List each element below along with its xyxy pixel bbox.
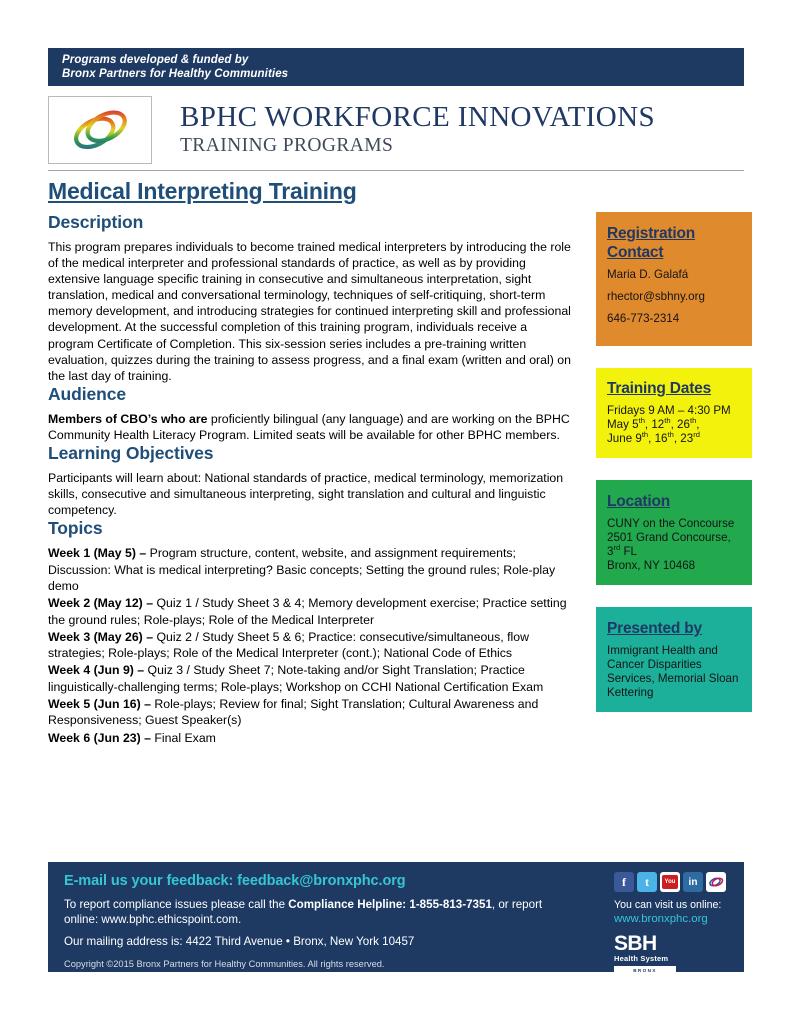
bphc-ring-glyph	[708, 874, 724, 890]
may-mid-1: , 12	[645, 418, 664, 431]
presenter-line-4: Kettering	[607, 686, 742, 700]
audience-lead: Members of CBO’s who are	[48, 412, 207, 426]
bphc-rings-logo-icon	[64, 103, 136, 157]
topic-week-label: Week 6 (Jun 23) –	[48, 731, 151, 745]
training-dates-time: Fridays 9 AM – 4:30 PM	[607, 404, 742, 418]
audience-body: Members of CBO’s who are proficiently bi…	[48, 411, 572, 443]
topic-week-text: Final Exam	[151, 731, 216, 745]
topic-week-label: Week 3 (May 26) –	[48, 630, 153, 644]
visit-label: You can visit us online:	[614, 899, 739, 912]
sbh-logo-sub: Health System	[614, 954, 739, 964]
topic-week-label: Week 1 (May 5) –	[48, 546, 146, 560]
compliance-pre: To report compliance issues please call …	[64, 898, 288, 911]
footer-right: f t You in You can visit us online: www.…	[614, 872, 739, 974]
topic-week-label: Week 2 (May 12) –	[48, 596, 153, 610]
objectives-heading: Learning Objectives	[48, 443, 572, 464]
sbh-logo-main: SBH	[614, 933, 739, 954]
june-pre: June 9	[607, 432, 642, 445]
registration-contact-name: Maria D. Galafá	[607, 268, 742, 282]
may-mid-2: , 26	[671, 418, 690, 431]
location-city: Bronx, NY 10468	[607, 559, 742, 573]
topic-week-item: Week 5 (Jun 16) – Role-plays; Review for…	[48, 696, 572, 729]
presented-by-heading: Presented by	[607, 619, 742, 638]
training-dates-heading: Training Dates	[607, 379, 742, 398]
linkedin-glyph: in	[689, 877, 698, 888]
facebook-glyph: f	[622, 875, 626, 890]
footer-mailing-address: Our mailing address is: 4422 Third Avenu…	[64, 935, 564, 950]
presenter-line-1: Immigrant Health and	[607, 644, 742, 658]
registration-contact-heading: RegistrationContact	[607, 224, 742, 262]
funding-banner: Programs developed & funded by Bronx Par…	[48, 48, 744, 86]
topic-week-item: Week 4 (Jun 9) – Quiz 3 / Study Sheet 7;…	[48, 662, 572, 695]
linkedin-icon[interactable]: in	[683, 872, 703, 892]
footer-compliance: To report compliance issues please call …	[64, 898, 564, 927]
location-venue: CUNY on the Concourse	[607, 517, 742, 531]
social-links: f t You in	[614, 872, 739, 892]
location-heading: Location	[607, 492, 742, 511]
june-mid-1: , 16	[648, 432, 667, 445]
topic-week-item: Week 6 (Jun 23) – Final Exam	[48, 730, 572, 746]
topic-week-item: Week 3 (May 26) – Quiz 2 / Study Sheet 5…	[48, 629, 572, 662]
training-dates-may: May 5th, 12th, 26th,	[607, 418, 742, 432]
sbh-logo: SBH Health System BRONX	[614, 933, 739, 974]
brand-header: BPHC WORKFORCE INNOVATIONS TRAINING PROG…	[48, 96, 744, 168]
funding-banner-line-2: Bronx Partners for Healthy Communities	[62, 67, 744, 81]
may-pre: May 5	[607, 418, 639, 431]
may-end: ,	[696, 418, 699, 431]
objectives-body: Participants will learn about: National …	[48, 470, 572, 518]
header-divider	[48, 170, 744, 171]
location-floor: 3rd FL	[607, 545, 742, 559]
page-title: Medical Interpreting Training	[48, 178, 357, 205]
logo-box	[48, 96, 152, 164]
june-sup-3: rd	[693, 430, 700, 439]
presented-by-box: Presented by Immigrant Health and Cancer…	[596, 607, 752, 712]
registration-contact-box: RegistrationContact Maria D. Galafá rhec…	[596, 212, 752, 346]
location-box: Location CUNY on the Concourse 2501 Gran…	[596, 480, 752, 585]
facebook-icon[interactable]: f	[614, 872, 634, 892]
topic-week-item: Week 1 (May 5) – Program structure, cont…	[48, 545, 572, 594]
topics-list: Week 1 (May 5) – Program structure, cont…	[48, 545, 572, 746]
registration-heading-line2: Contact	[607, 244, 663, 261]
footer-left: E-mail us your feedback: feedback@bronxp…	[64, 873, 564, 970]
brand-title: BPHC WORKFORCE INNOVATIONS	[180, 101, 655, 134]
topic-week-item: Week 2 (May 12) – Quiz 1 / Study Sheet 3…	[48, 595, 572, 628]
brand-subtitle: TRAINING PROGRAMS	[180, 134, 655, 157]
funding-banner-line-1: Programs developed & funded by	[62, 53, 744, 67]
registration-contact-phone[interactable]: 646-773-2314	[607, 312, 742, 326]
training-dates-box: Training Dates Fridays 9 AM – 4:30 PM Ma…	[596, 368, 752, 458]
presenter-line-2: Cancer Disparities	[607, 658, 742, 672]
location-street: 2501 Grand Concourse,	[607, 531, 742, 545]
description-body: This program prepares individuals to bec…	[48, 239, 572, 384]
youtube-glyph: You	[662, 875, 678, 889]
compliance-helpline[interactable]: Compliance Helpline: 1-855-813-7351	[288, 898, 492, 911]
bphc-icon[interactable]	[706, 872, 726, 892]
twitter-glyph: t	[645, 875, 649, 890]
topics-heading: Topics	[48, 518, 572, 539]
registration-contact-email[interactable]: rhector@sbhny.org	[607, 290, 742, 304]
footer-copyright: Copyright ©2015 Bronx Partners for Healt…	[64, 958, 564, 970]
sidebar: RegistrationContact Maria D. Galafá rhec…	[596, 212, 752, 734]
footer-feedback-link[interactable]: E-mail us your feedback: feedback@bronxp…	[64, 873, 564, 889]
registration-heading-line1: Registration	[607, 225, 695, 242]
floor-label: FL	[620, 545, 637, 558]
visit-url[interactable]: www.bronxphc.org	[614, 912, 739, 926]
footer: E-mail us your feedback: feedback@bronxp…	[48, 862, 744, 972]
audience-heading: Audience	[48, 384, 572, 405]
twitter-icon[interactable]: t	[637, 872, 657, 892]
presenter-line-3: Services, Memorial Sloan	[607, 672, 742, 686]
topic-week-label: Week 4 (Jun 9) –	[48, 663, 144, 677]
youtube-icon[interactable]: You	[660, 872, 680, 892]
june-mid-2: , 23	[674, 432, 693, 445]
training-dates-june: June 9th, 16th, 23rd	[607, 432, 742, 446]
sbh-logo-bar: BRONX	[614, 966, 676, 974]
description-heading: Description	[48, 212, 572, 233]
topic-week-label: Week 5 (Jun 16) –	[48, 697, 151, 711]
flyer-page: Programs developed & funded by Bronx Par…	[0, 0, 791, 1024]
brand-text: BPHC WORKFORCE INNOVATIONS TRAINING PROG…	[180, 101, 655, 157]
main-content: Description This program prepares indivi…	[48, 212, 572, 747]
